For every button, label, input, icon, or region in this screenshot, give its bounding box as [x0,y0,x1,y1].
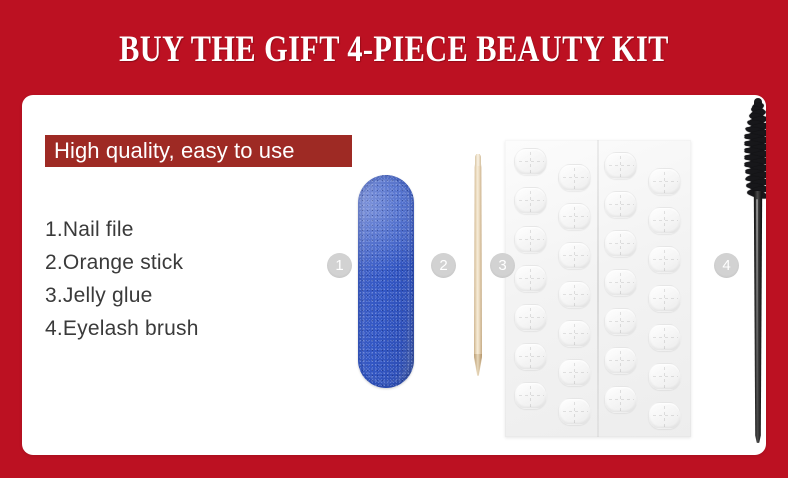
glue-tab [604,386,637,413]
feature-list: 1.Nail file 2.Orange stick 3.Jelly glue … [45,213,345,345]
glue-tab [648,168,681,195]
eyelash-brush-handle-highlight [756,199,758,425]
glue-tab [648,246,681,273]
glue-tab [648,207,681,234]
glue-tab [514,148,547,175]
quality-banner: High quality, easy to use [45,135,352,167]
product-banner-image: BUY THE GIFT 4-PIECE BEAUTY KIT High qua… [0,0,788,495]
product-card: High quality, easy to use 1.Nail file 2.… [22,95,766,455]
glue-tab [514,343,547,370]
product-jelly-glue [505,140,691,437]
orange-stick-flat-tip [475,154,481,166]
glue-tab [604,152,637,179]
page-title: BUY THE GIFT 4-PIECE BEAUTY KIT [71,28,717,71]
glue-tab [604,308,637,335]
glue-tab [514,304,547,331]
glue-tab [558,203,591,230]
eyelash-brush-handle [753,191,763,443]
glue-tab [604,230,637,257]
list-item: 2.Orange stick [45,246,345,279]
glue-tab [648,285,681,312]
list-item: 1.Nail file [45,213,345,246]
glue-tab [604,191,637,218]
glue-tab [558,320,591,347]
badge-3: 3 [490,253,515,278]
orange-stick-body [474,154,482,375]
product-nail-file [358,175,414,388]
glue-tab [514,382,547,409]
glue-tab [648,363,681,390]
list-item: 3.Jelly glue [45,279,345,312]
glue-tab [514,187,547,214]
orange-stick-point-tip [474,354,482,376]
badge-2: 2 [431,253,456,278]
glue-tab [558,398,591,425]
quality-banner-label: High quality, easy to use [54,138,295,164]
glue-tab [514,265,547,292]
glue-tab [558,164,591,191]
glue-tab [558,242,591,269]
glue-tab [604,269,637,296]
badge-4: 4 [714,253,739,278]
glue-tab [604,347,637,374]
badge-1: 1 [327,253,352,278]
glue-tab-grid [512,148,684,429]
glue-tab [558,281,591,308]
glue-tab [514,226,547,253]
product-eyelash-brush [738,103,766,443]
eyelash-brush-head [744,103,766,195]
glue-tab [648,402,681,429]
list-item: 4.Eyelash brush [45,312,345,345]
product-orange-stick [474,154,482,375]
bottom-white-strip [0,478,788,495]
glue-tab [558,359,591,386]
glue-tab [648,324,681,351]
